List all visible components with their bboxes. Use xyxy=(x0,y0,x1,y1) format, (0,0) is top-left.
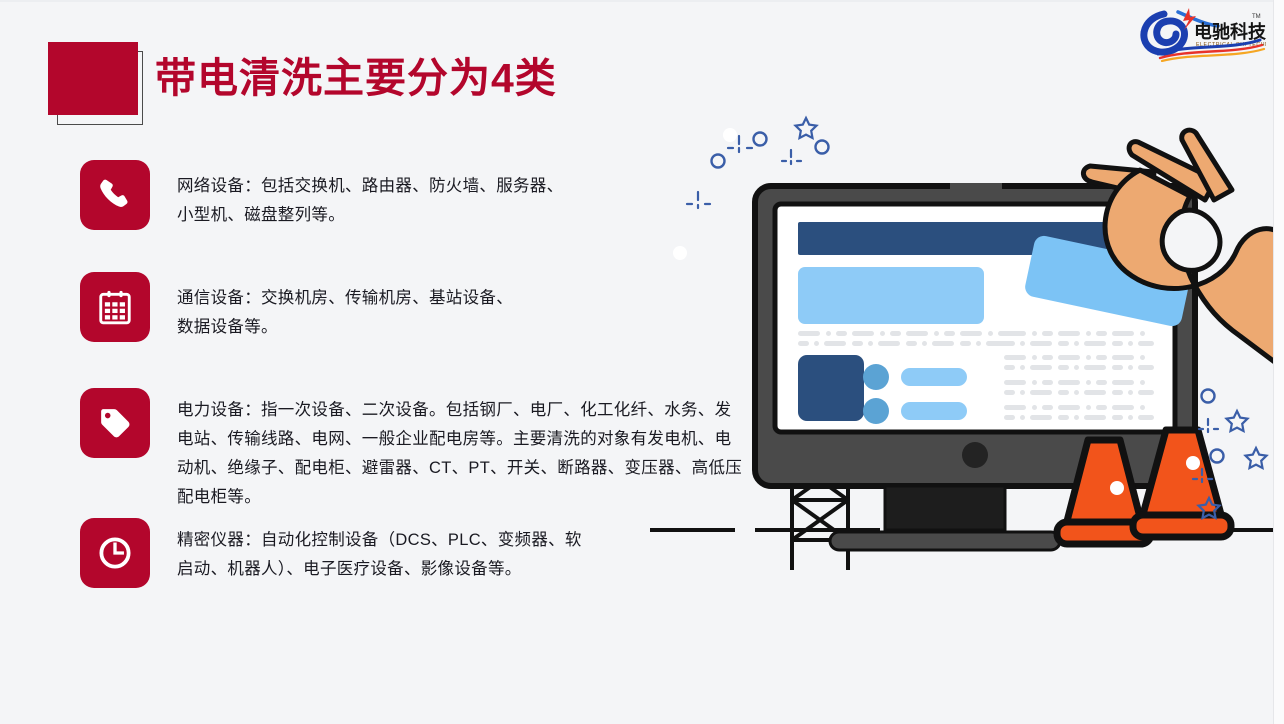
monitor-led xyxy=(962,442,988,468)
illustration xyxy=(620,100,1284,620)
phone-icon xyxy=(80,160,150,230)
screen-dark-block xyxy=(798,355,864,421)
logo-mark: 电驰科技 ELECTRICAL CHI TECHNOLOGY TM xyxy=(1134,4,1266,62)
list-item-text: 精密仪器：自动化控制设备（DCS、PLC、变频器、软 启动、机器人）、电子医疗设… xyxy=(177,518,597,584)
list-item-line: 启动、机器人）、电子医疗设备、影像设备等。 xyxy=(177,555,597,584)
svg-text:TM: TM xyxy=(1252,14,1261,20)
list-item[interactable]: 网络设备：包括交换机、路由器、防火墙、服务器、 小型机、磁盘整列等。 xyxy=(80,160,577,230)
list-item[interactable]: 通信设备：交换机房、传输机房、基站设备、 数据设备等。 xyxy=(80,272,577,342)
company-logo: 电驰科技 ELECTRICAL CHI TECHNOLOGY TM xyxy=(1134,4,1266,62)
list-item-text: 网络设备：包括交换机、路由器、防火墙、服务器、 小型机、磁盘整列等。 xyxy=(177,160,577,230)
list-item[interactable]: 精密仪器：自动化控制设备（DCS、PLC、变频器、软 启动、机器人）、电子医疗设… xyxy=(80,518,597,588)
calendar-glyph xyxy=(96,288,134,326)
clock-glyph xyxy=(96,534,134,572)
list-item-line: 网络设备：包括交换机、路由器、防火墙、服务器、 xyxy=(177,172,577,201)
list-item-text: 通信设备：交换机房、传输机房、基站设备、 数据设备等。 xyxy=(177,272,577,342)
top-hairline xyxy=(0,0,1274,2)
calendar-icon xyxy=(80,272,150,342)
slide-canvas: 带电清洗主要分为4类 电驰科技 ELECTRICAL CHI TECHNOLOG… xyxy=(0,0,1284,724)
tag-icon xyxy=(80,388,150,458)
title-accent-square xyxy=(48,42,138,115)
screen-pill-bar xyxy=(901,402,967,420)
list-item-line: 数据设备等。 xyxy=(177,313,577,342)
monitor-stand xyxy=(830,486,1060,550)
illustration-svg xyxy=(620,100,1284,620)
list-item-line: 通信设备：交换机房、传输机房、基站设备、 xyxy=(177,284,577,313)
screen-avatar xyxy=(863,364,889,390)
screen-avatar xyxy=(863,398,889,424)
clock-icon xyxy=(80,518,150,588)
page-title: 带电清洗主要分为4类 xyxy=(155,44,557,104)
page-right-edge xyxy=(1273,0,1284,724)
phone-glyph xyxy=(96,176,134,214)
svg-text:电驰科技: 电驰科技 xyxy=(1194,21,1266,42)
tag-glyph xyxy=(96,404,134,442)
list-item-line: 精密仪器：自动化控制设备（DCS、PLC、变频器、软 xyxy=(177,526,597,555)
screen-pill-bar xyxy=(901,368,967,386)
screen-hero-block xyxy=(798,267,984,324)
list-item-line: 小型机、磁盘整列等。 xyxy=(177,201,577,230)
